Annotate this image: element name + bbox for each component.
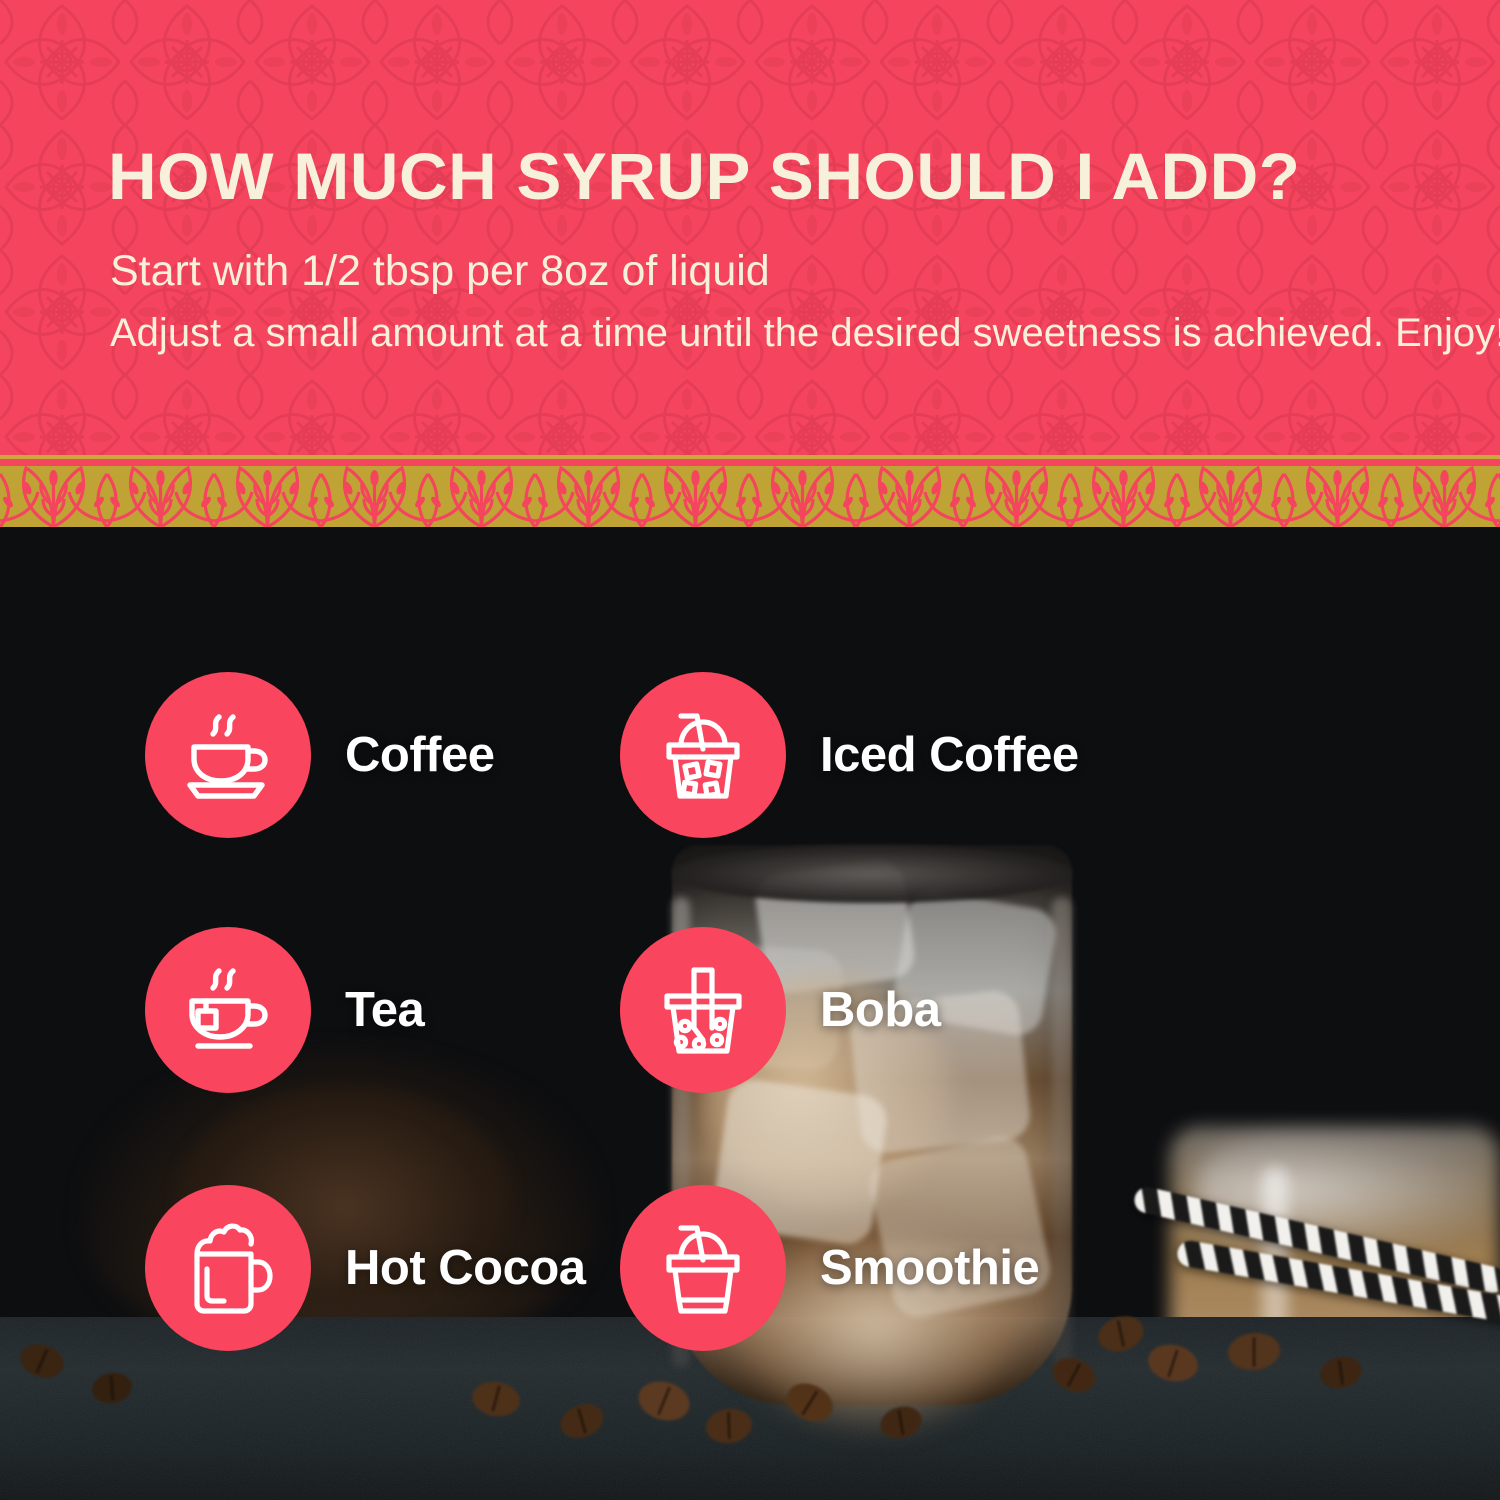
use-label: Boba [820, 982, 941, 1038]
use-item-iced-coffee[interactable]: Iced Coffee [620, 672, 1079, 838]
use-item-boba[interactable]: Boba [620, 927, 941, 1093]
use-item-tea[interactable]: Tea [145, 927, 424, 1093]
use-label: Tea [345, 982, 424, 1038]
hot-cocoa-mug-icon [145, 1185, 311, 1351]
floral-border-band [0, 466, 1500, 527]
tea-cup-icon [145, 927, 311, 1093]
iced-coffee-cup-icon [620, 672, 786, 838]
boba-cup-icon [620, 927, 786, 1093]
page-title: HOW MUCH SYRUP SHOULD I ADD? [108, 138, 1300, 214]
coffee-cup-icon [145, 672, 311, 838]
use-label: Iced Coffee [820, 727, 1079, 783]
header-banner: HOW MUCH SYRUP SHOULD I ADD? Start with … [0, 0, 1500, 457]
use-item-smoothie[interactable]: Smoothie [620, 1185, 1039, 1351]
smoothie-cup-icon [620, 1185, 786, 1351]
instruction-line-1: Start with 1/2 tbsp per 8oz of liquid [110, 247, 770, 296]
use-item-coffee[interactable]: Coffee [145, 672, 494, 838]
beverage-uses-grid: Coffee Iced Coffee [0, 527, 1500, 1500]
use-label: Smoothie [820, 1240, 1039, 1296]
use-label: Coffee [345, 727, 494, 783]
border-leaf-pattern [0, 466, 1500, 527]
use-item-hot-cocoa[interactable]: Hot Cocoa [145, 1185, 586, 1351]
infographic-page: HOW MUCH SYRUP SHOULD I ADD? Start with … [0, 0, 1500, 1500]
pink-divider-strip [0, 459, 1500, 466]
instruction-line-2: Adjust a small amount at a time until th… [110, 311, 1500, 356]
use-label: Hot Cocoa [345, 1240, 586, 1296]
